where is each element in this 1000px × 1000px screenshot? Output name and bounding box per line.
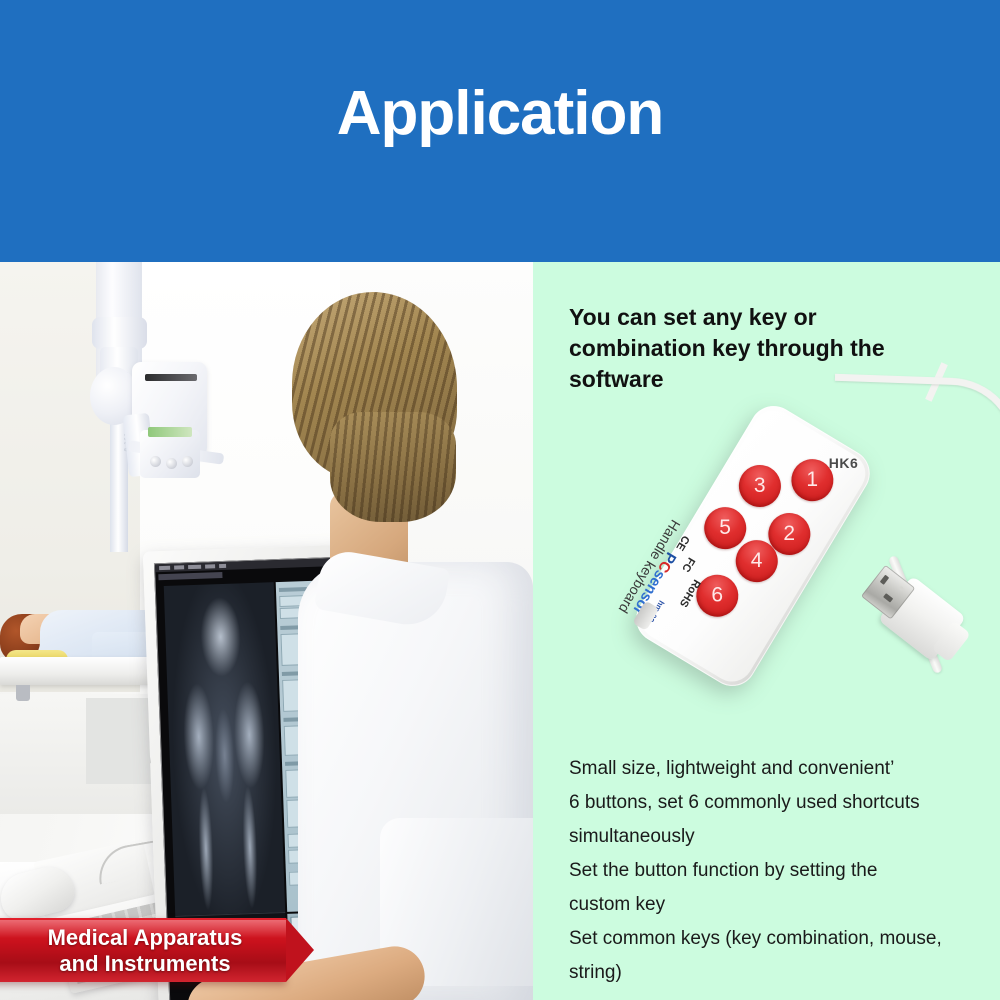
feature-line-1: Small size, lightweight and convenient’ [569, 752, 994, 786]
ribbon-line-1: Medical Apparatus [0, 925, 290, 951]
ribbon-arrow-tip [286, 918, 314, 982]
device-button-3-label: 3 [754, 474, 766, 498]
feature-line-2: 6 buttons, set 6 commonly used shortcuts [569, 786, 994, 820]
xray-knob-left [150, 456, 161, 467]
xray-collimator-slot [145, 374, 197, 381]
handle-keyboard-device: HK6 1 2 3 4 5 6 Handle keyboard CE FC Ro… [627, 397, 878, 695]
xray-knob-mid [166, 458, 177, 469]
xray-display-strip [148, 427, 192, 437]
feature-panel: You can set any key or combination key t… [533, 262, 1000, 1000]
category-ribbon-text: Medical Apparatus and Instruments [0, 925, 290, 977]
technician-hair-back [330, 412, 456, 522]
poster-page: Application AXI [0, 0, 1000, 1000]
xray-machine-joint [92, 317, 147, 349]
feature-line-5: custom key [569, 888, 994, 922]
application-photo: AXI [0, 262, 533, 1000]
feature-list: Small size, lightweight and convenient’ … [569, 752, 994, 990]
device-model-label: HK6 [829, 455, 859, 471]
page-title: Application [0, 78, 1000, 150]
software-title-bar [158, 572, 222, 580]
device-button-2-label: 2 [784, 522, 796, 546]
feature-line-6: Set common keys (key combination, mouse, [569, 922, 994, 956]
device-button-5-label: 5 [719, 516, 731, 540]
xray-radiograph-image [164, 582, 285, 916]
feature-line-4: Set the button function by setting the [569, 854, 994, 888]
exam-table-leg [16, 685, 30, 701]
usb-connector [856, 558, 966, 661]
device-button-6-label: 6 [711, 584, 723, 608]
xray-control-box [140, 430, 200, 478]
feature-line-7: string) [569, 956, 994, 990]
device-button-4-label: 4 [751, 549, 763, 573]
header-banner: Application [0, 0, 1000, 262]
device-button-1-label: 1 [807, 468, 819, 492]
ribbon-line-2: and Instruments [0, 951, 290, 977]
feature-line-3: simultaneously [569, 820, 994, 854]
xray-knob-right [182, 456, 193, 467]
